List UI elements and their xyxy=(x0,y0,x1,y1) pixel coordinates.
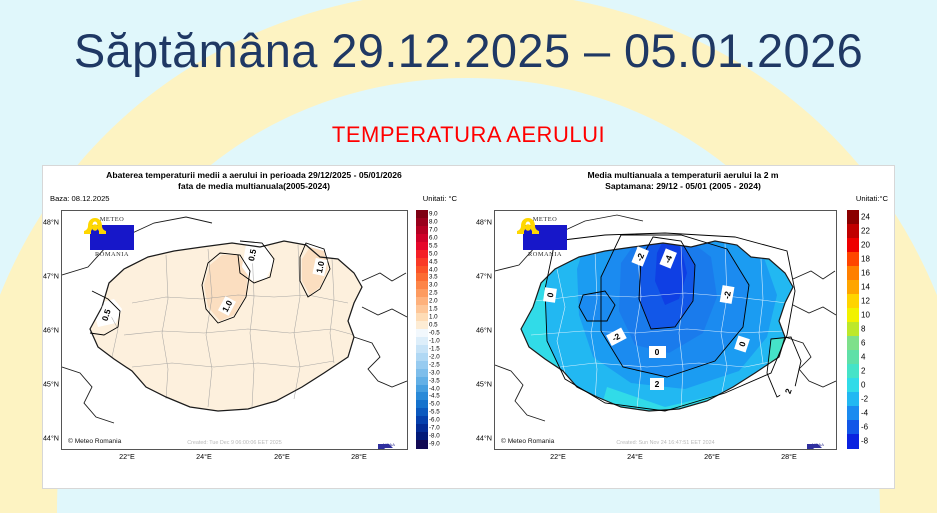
colorbar-tick-label: 1.0 xyxy=(429,314,438,321)
anomaly-map-copyright: © Meteo Romania xyxy=(68,438,121,445)
colorbar-tick-label: 16 xyxy=(861,269,870,278)
lat-tick-48: 48°N xyxy=(43,218,59,227)
anomaly-map-baza: Baza: 08.12.2025 xyxy=(50,194,110,203)
lon-tick-22: 22°E xyxy=(550,452,566,461)
colorbar-tick-label: -6.0 xyxy=(429,417,440,424)
anomaly-map-title-line1: Abaterea temperaturii medii a aerului in… xyxy=(43,170,465,181)
colorbar-tick-label: 2.5 xyxy=(429,290,438,297)
logo-mark xyxy=(523,225,567,250)
climatology-map-lat-axis: 48°N 47°N 46°N 45°N 44°N xyxy=(468,210,492,448)
noaa-logo: NOAA xyxy=(376,442,402,447)
anomaly-map-subheader: Baza: 08.12.2025 Unitati: °C xyxy=(43,194,465,206)
climatology-map-lon-axis: 22°E 24°E 26°E 28°E xyxy=(494,452,835,466)
colorbar-tick-label: -2.0 xyxy=(429,353,440,360)
contour-label: 0 xyxy=(655,347,660,357)
colorbar-tick-label: 5.0 xyxy=(429,250,438,257)
colorbar-tick-label: -1.0 xyxy=(429,337,440,344)
lat-tick-44: 44°N xyxy=(43,434,59,443)
colorbar-tick-label: -0.5 xyxy=(429,329,440,336)
colorbar-tick-label: 24 xyxy=(861,213,870,222)
anomaly-map-title: Abaterea temperaturii medii a aerului in… xyxy=(43,170,465,192)
climatology-map-title: Media multianuala a temperaturii aerului… xyxy=(472,170,894,192)
meteo-romania-logo: METEO ROMANIA xyxy=(80,216,144,259)
noaa-logo: NOAA xyxy=(805,442,831,447)
lat-tick-48: 48°N xyxy=(476,218,492,227)
colorbar-tick-label: 2 xyxy=(861,367,865,376)
lon-tick-24: 24°E xyxy=(627,452,643,461)
climatology-colorbar xyxy=(847,210,859,448)
page-subtitle: TEMPERATURA AERULUI xyxy=(0,122,937,148)
colorbar-segment xyxy=(847,420,859,435)
colorbar-tick-label: -4 xyxy=(861,409,868,418)
colorbar-segment xyxy=(847,252,859,267)
colorbar-tick-label: -2.5 xyxy=(429,361,440,368)
colorbar-segment xyxy=(847,392,859,407)
slide-title-container: Săptămâna 29.12.2025 – 05.01.2026 xyxy=(0,26,937,75)
colorbar-tick-label: 4.5 xyxy=(429,258,438,265)
colorbar-tick-label: 0.5 xyxy=(429,322,438,329)
colorbar-segment xyxy=(847,350,859,365)
lat-tick-46: 46°N xyxy=(43,326,59,335)
colorbar-tick-label: 1.5 xyxy=(429,306,438,313)
colorbar-tick-label: -5.5 xyxy=(429,409,440,416)
climatology-map-plot[interactable]: 0 -2 -4 -2 - xyxy=(494,210,837,450)
anomaly-map-lat-axis: 48°N 47°N 46°N 45°N 44°N xyxy=(35,210,59,448)
omega-icon xyxy=(80,216,110,236)
anomaly-map-figure: Abaterea temperaturii medii a aerului in… xyxy=(43,166,465,488)
colorbar-segment xyxy=(847,294,859,309)
climatology-map-created: Created: Sun Nov 24 16:47:51 EET 2024 xyxy=(616,440,714,446)
climatology-map-unit: Unitati:°C xyxy=(856,194,888,203)
colorbar-segment xyxy=(416,440,428,449)
logo-mark xyxy=(90,225,134,250)
colorbar-segment xyxy=(847,378,859,393)
anomaly-colorbar xyxy=(416,210,428,448)
colorbar-tick-label: 4.0 xyxy=(429,266,438,273)
climatology-map-title-line2: Saptamana: 29/12 - 05/01 (2005 - 2024) xyxy=(472,181,894,192)
colorbar-tick-label: -3.0 xyxy=(429,369,440,376)
colorbar-tick-label: 9.0 xyxy=(429,210,438,217)
colorbar-segment xyxy=(847,406,859,421)
colorbar-tick-label: 20 xyxy=(861,241,870,250)
colorbar-tick-label: 14 xyxy=(861,283,870,292)
meteo-romania-logo: METEO ROMANIA xyxy=(513,216,577,259)
logo-label-romania: ROMANIA xyxy=(80,251,144,259)
colorbar-tick-label: -8.0 xyxy=(429,433,440,440)
colorbar-tick-label: 22 xyxy=(861,227,870,236)
lat-tick-45: 45°N xyxy=(476,380,492,389)
colorbar-tick-label: -4.5 xyxy=(429,393,440,400)
colorbar-tick-label: 12 xyxy=(861,297,870,306)
maps-panel: Abaterea temperaturii medii a aerului in… xyxy=(43,166,894,488)
lon-tick-22: 22°E xyxy=(119,452,135,461)
colorbar-tick-label: 3.0 xyxy=(429,282,438,289)
anomaly-map-created: Created: Tue Dec 9 06:00:06 EET 2025 xyxy=(187,440,282,446)
lon-tick-28: 28°E xyxy=(351,452,367,461)
colorbar-tick-label: -2 xyxy=(861,395,868,404)
climatology-colorbar-labels: 242220181614121086420-2-4-6-8 xyxy=(861,210,891,448)
colorbar-tick-label: 0 xyxy=(861,381,865,390)
lon-tick-26: 26°E xyxy=(704,452,720,461)
colorbar-tick-label: 6.0 xyxy=(429,234,438,241)
climatology-map-figure: Media multianuala a temperaturii aerului… xyxy=(472,166,894,488)
colorbar-tick-label: -3.5 xyxy=(429,377,440,384)
colorbar-segment xyxy=(847,364,859,379)
lon-tick-24: 24°E xyxy=(196,452,212,461)
colorbar-segment xyxy=(847,238,859,253)
colorbar-tick-label: 4 xyxy=(861,353,865,362)
colorbar-tick-label: 7.0 xyxy=(429,226,438,233)
colorbar-segment xyxy=(847,336,859,351)
colorbar-tick-label: 2.0 xyxy=(429,298,438,305)
contour-label: 2 xyxy=(655,379,660,389)
colorbar-tick-label: -1.5 xyxy=(429,345,440,352)
lat-tick-46: 46°N xyxy=(476,326,492,335)
colorbar-segment xyxy=(847,266,859,281)
anomaly-colorbar-labels: 9.08.07.06.05.55.04.54.03.53.02.52.01.51… xyxy=(429,210,459,448)
colorbar-tick-label: 8.0 xyxy=(429,218,438,225)
colorbar-tick-label: 8 xyxy=(861,325,865,334)
lon-tick-26: 26°E xyxy=(274,452,290,461)
lat-tick-44: 44°N xyxy=(476,434,492,443)
anomaly-map-title-line2: fata de media multianuala(2005-2024) xyxy=(43,181,465,192)
lon-tick-28: 28°E xyxy=(781,452,797,461)
lat-tick-47: 47°N xyxy=(43,272,59,281)
colorbar-tick-label: -9.0 xyxy=(429,441,440,448)
colorbar-segment xyxy=(847,210,859,225)
page-title: Săptămâna 29.12.2025 – 05.01.2026 xyxy=(0,26,937,75)
colorbar-tick-label: -8 xyxy=(861,437,868,446)
colorbar-tick-label: 6 xyxy=(861,339,865,348)
colorbar-tick-label: 18 xyxy=(861,255,870,264)
colorbar-tick-label: -4.0 xyxy=(429,385,440,392)
slide-subtitle-container: TEMPERATURA AERULUI xyxy=(0,122,937,148)
colorbar-segment xyxy=(847,280,859,295)
logo-label-romania: ROMANIA xyxy=(513,251,577,259)
climatology-map-title-line1: Media multianuala a temperaturii aerului… xyxy=(472,170,894,181)
anomaly-map-plot[interactable]: 0.5 0.5 1.0 1.0 xyxy=(61,210,408,450)
colorbar-tick-label: -5.0 xyxy=(429,401,440,408)
lat-tick-45: 45°N xyxy=(43,380,59,389)
anomaly-map-lon-axis: 22°E 24°E 26°E 28°E xyxy=(61,452,406,466)
colorbar-tick-label: 5.5 xyxy=(429,242,438,249)
colorbar-tick-label: -6 xyxy=(861,423,868,432)
colorbar-segment xyxy=(847,434,859,449)
omega-icon xyxy=(513,216,543,236)
anomaly-map-unit: Unitati: °C xyxy=(423,194,457,203)
colorbar-segment xyxy=(847,322,859,337)
lat-tick-47: 47°N xyxy=(476,272,492,281)
climatology-map-subheader: Unitati:°C xyxy=(472,194,894,206)
noaa-bird-icon xyxy=(805,442,825,450)
climatology-map-copyright: © Meteo Romania xyxy=(501,438,554,445)
colorbar-segment xyxy=(847,224,859,239)
colorbar-tick-label: -7.0 xyxy=(429,425,440,432)
colorbar-segment xyxy=(847,308,859,323)
colorbar-tick-label: 3.5 xyxy=(429,274,438,281)
colorbar-tick-label: 10 xyxy=(861,311,870,320)
noaa-bird-icon xyxy=(376,442,396,450)
